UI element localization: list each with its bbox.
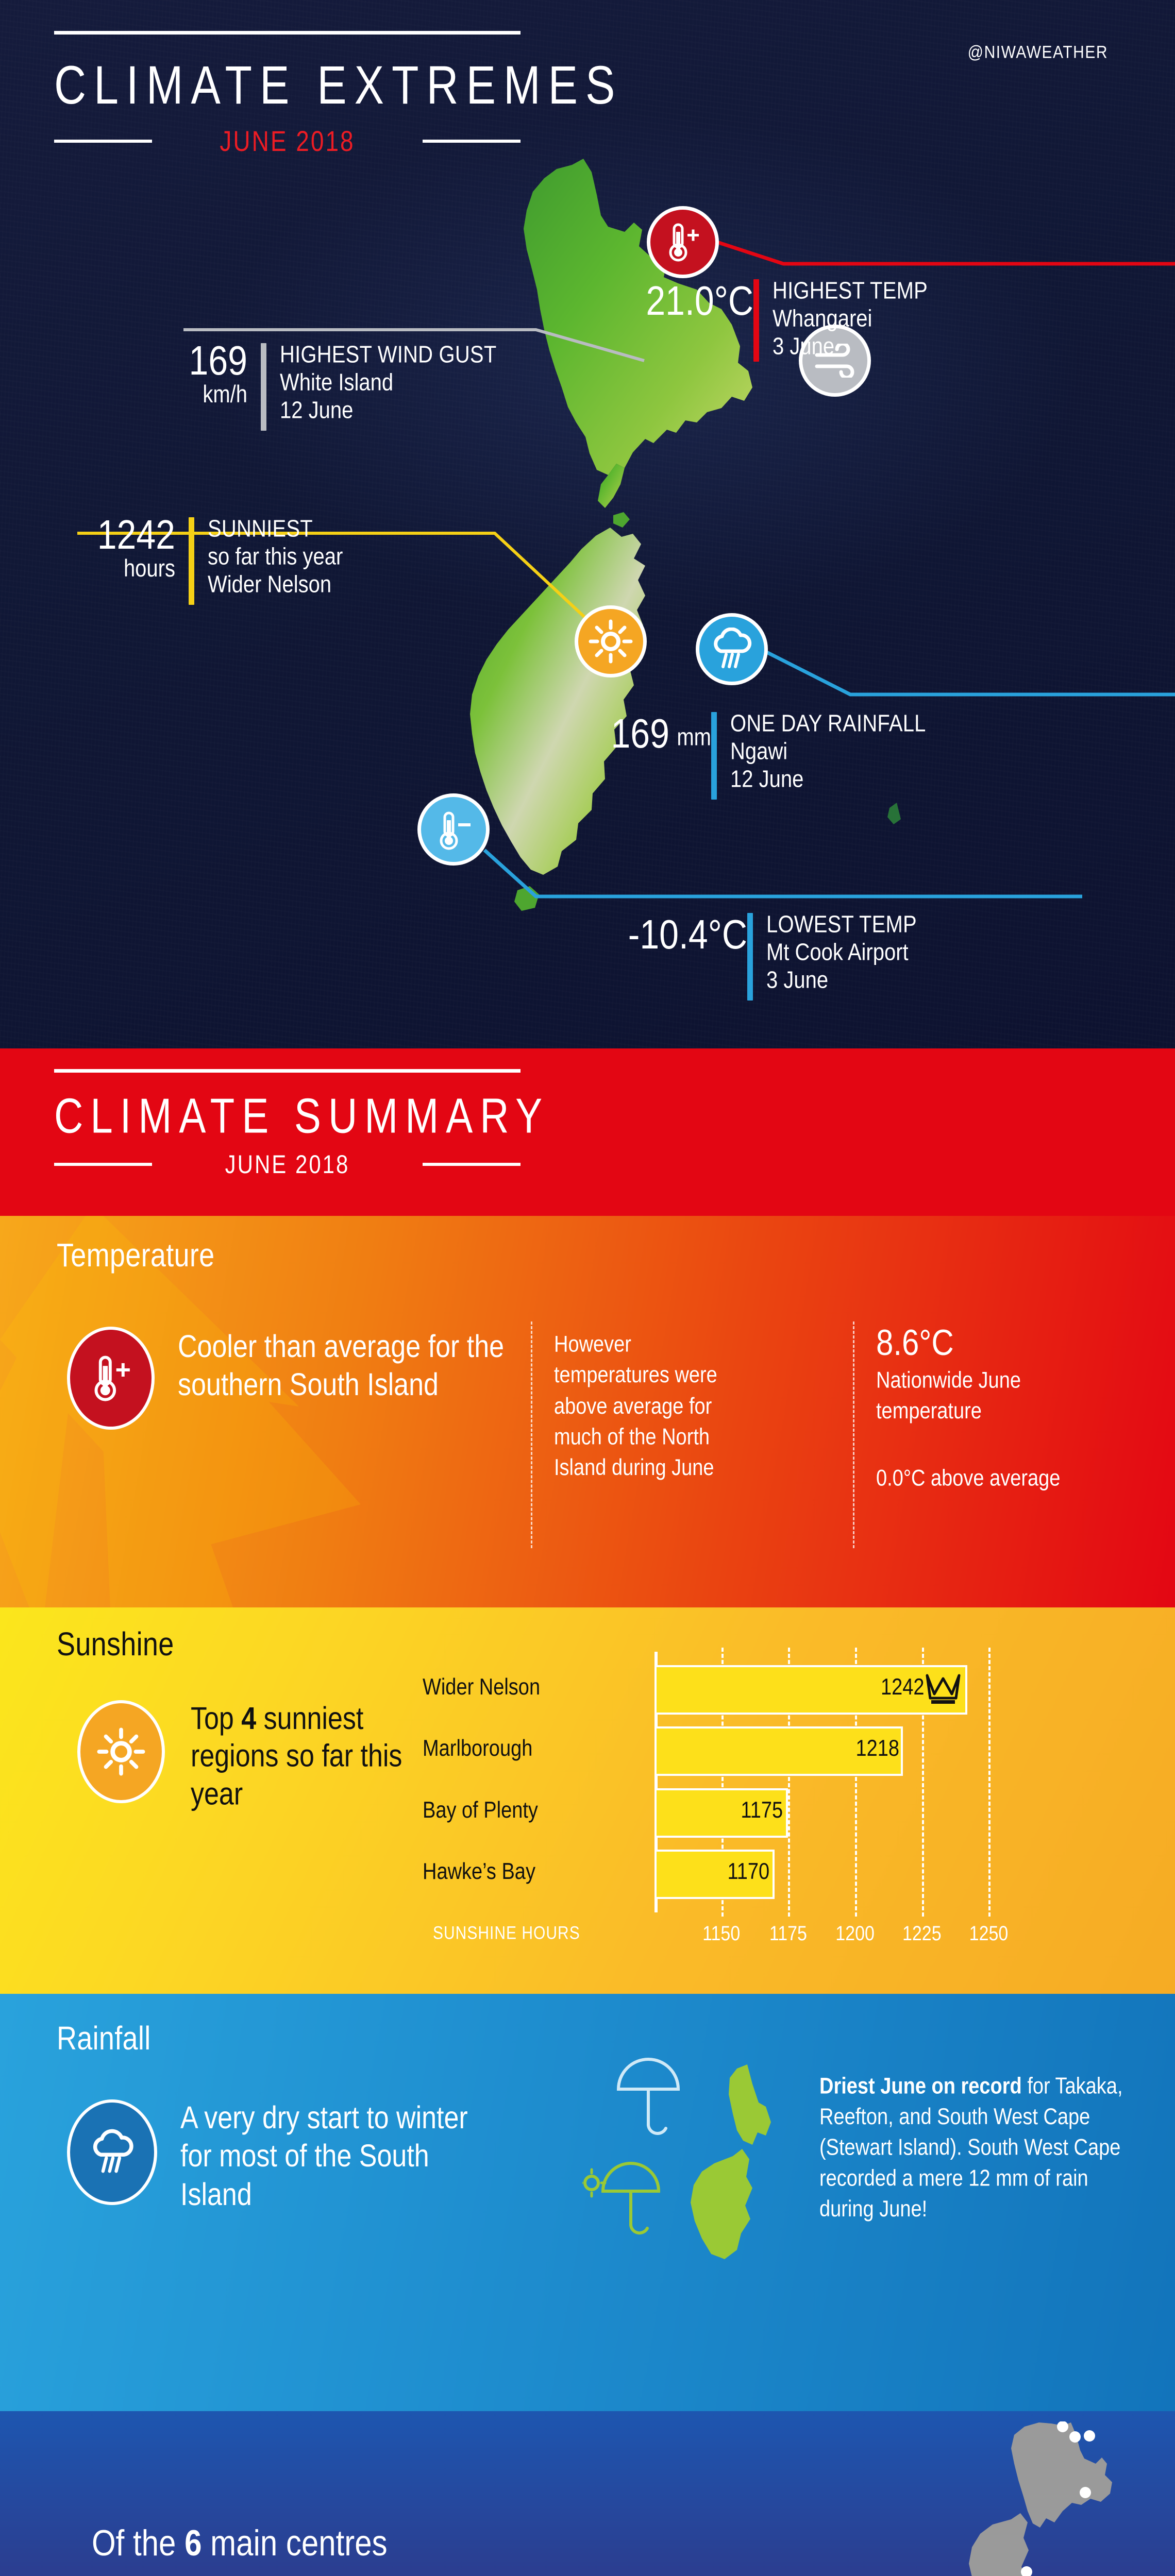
callout-highest-wind-gust: 169 km/h HIGHEST WIND GUST White Island … (155, 341, 496, 431)
chart-x-tick-label: 1200 (835, 1922, 875, 1946)
extreme-value: -10.4 (628, 911, 708, 958)
temperature-stat-label: Nationwide June temperature (876, 1365, 1072, 1427)
rain-cloud-icon (88, 2129, 137, 2176)
sunshine-section: Sunshine Top 4 sunniest regions so far t… (0, 1607, 1175, 1994)
rain-cloud-icon (709, 628, 755, 671)
temperature-section: Temperature Cooler than average for the … (0, 1216, 1175, 1607)
callout-highest-temp: 21.0°C HIGHEST TEMP Whangarei 3 June (753, 277, 928, 362)
chart-x-tick-label: 1250 (969, 1922, 1009, 1946)
extreme-heading: HIGHEST WIND GUST (280, 341, 496, 369)
chart-bar-value: 1242 (881, 1674, 925, 1700)
extreme-place: Mt Cook Airport (766, 939, 917, 967)
rainfall-lead: A very dry start to winter for most of t… (180, 2099, 500, 2214)
pin-sunniest (575, 605, 647, 677)
chart-category-label: Marlborough (423, 1736, 649, 1762)
pin-highest-temp (647, 206, 719, 278)
accent-bar (747, 913, 753, 1001)
callout-text: SUNNIEST so far this year Wider Nelson (208, 515, 343, 599)
temperature-note: However temperatures were above average … (554, 1329, 750, 1484)
sunshine-bar-chart: SUNSHINE HOURS Wider NelsonMarlboroughBa… (0, 1607, 1175, 1994)
summary-rule-right (423, 1163, 521, 1166)
climate-extremes-section: CLIMATE EXTREMES JUNE 2018 @NIWAWEATHER (0, 0, 1175, 1048)
section-title-rainfall: Rainfall (57, 2020, 151, 2057)
accent-bar (753, 279, 759, 362)
summary-rule-top (54, 1069, 521, 1073)
extreme-value: 169 (155, 341, 247, 380)
callout-text: LOWEST TEMP Mt Cook Airport 3 June (766, 911, 917, 995)
centres-heading-suffix: main centres (202, 2522, 387, 2563)
summary-subtitle: JUNE 2018 (152, 1149, 423, 1179)
extreme-unit: °C (708, 911, 747, 958)
chart-gridline (988, 1648, 991, 1917)
summary-title-block: CLIMATE SUMMARY JUNE 2018 (54, 1069, 533, 1177)
extreme-heading: HIGHEST TEMP (773, 277, 928, 305)
centres-heading-prefix: Of the (92, 2522, 184, 2563)
main-centres-section: Of the 6 main centres (0, 2411, 1175, 2576)
chart-x-tick-label: 1150 (702, 1922, 740, 1946)
chart-x-tick-label: 1225 (902, 1922, 942, 1946)
chart-x-tick-label: 1175 (769, 1922, 807, 1946)
rainfall-note-strong: Driest June on record (819, 2074, 1022, 2099)
chart-bar-value: 1218 (855, 1736, 899, 1762)
extreme-unit: km/h (155, 383, 247, 406)
extreme-heading: SUNNIEST (208, 515, 343, 543)
pin-lowest-temp (417, 793, 490, 866)
summary-subtitle-row: JUNE 2018 (54, 1152, 521, 1177)
thermometer-hot-icon (88, 1351, 133, 1405)
extreme-date: 12 June (730, 766, 926, 794)
extreme-place: so far this year (208, 543, 343, 571)
infographic-page: CLIMATE EXTREMES JUNE 2018 @NIWAWEATHER (0, 0, 1175, 2576)
chart-category-label: Wider Nelson (423, 1674, 649, 1700)
pin-one-day-rainfall (696, 613, 768, 685)
callout-lowest-temp: -10.4°C LOWEST TEMP Mt Cook Airport 3 Ju… (747, 911, 917, 1001)
chart-bar-value: 1170 (727, 1859, 769, 1885)
extreme-heading: LOWEST TEMP (766, 911, 917, 939)
temperature-stat-note: 0.0°C above average (876, 1463, 1072, 1494)
extreme-value: 1242 (72, 515, 175, 554)
extreme-date: 3 June (766, 967, 917, 995)
rainfall-note: Driest June on record for Takaka, Reefto… (819, 2071, 1123, 2225)
temperature-lead: Cooler than average for the southern Sou… (178, 1328, 508, 1404)
rainfall-icon-badge (67, 2099, 157, 2205)
centres-heading-strong: 6 (184, 2522, 202, 2563)
extreme-value: 169 (611, 710, 669, 757)
thermometer-cold-icon (434, 809, 473, 850)
rainfall-section: Rainfall A very dry start to winter for … (0, 1994, 1175, 2411)
crown-icon (925, 1671, 961, 1708)
extreme-place: White Island (280, 369, 496, 397)
sun-icon (589, 619, 633, 664)
chart-axis-label: SUNSHINE HOURS (433, 1923, 580, 1944)
summary-title: CLIMATE SUMMARY (54, 1091, 533, 1140)
chart-category-label: Hawke’s Bay (423, 1859, 649, 1885)
chart-bar-value: 1175 (741, 1798, 783, 1823)
chart-category-label: Bay of Plenty (423, 1798, 649, 1823)
extreme-date: 3 June (773, 333, 928, 361)
extreme-unit: mm (677, 724, 711, 751)
extreme-value: 21.0 (646, 278, 714, 324)
callout-text: ONE DAY RAINFALL Ngawi 12 June (730, 710, 926, 794)
extreme-place: Ngawi (730, 738, 926, 766)
callout-text: HIGHEST TEMP Whangarei 3 June (773, 277, 928, 361)
temperature-icon-badge (67, 1327, 155, 1430)
accent-bar (711, 712, 717, 800)
extreme-place: Whangarei (773, 305, 928, 333)
callout-sunniest: 1242 hours SUNNIEST so far this year Wid… (72, 515, 343, 605)
extreme-unit: °C (714, 278, 753, 324)
divider-1 (531, 1321, 532, 1548)
thermometer-hot-icon (664, 221, 702, 264)
accent-bar (261, 343, 266, 431)
temperature-stat-value: 8.6°C (876, 1321, 954, 1363)
section-title-temperature: Temperature (57, 1236, 214, 1274)
divider-2 (853, 1321, 854, 1548)
extreme-date: 12 June (280, 397, 496, 425)
callout-text: HIGHEST WIND GUST White Island 12 June (280, 341, 496, 425)
extreme-unit: hours (72, 557, 175, 580)
climate-summary-banner: CLIMATE SUMMARY JUNE 2018 (0, 1048, 1175, 1216)
rainfall-decoration (582, 2053, 830, 2342)
accent-bar (189, 517, 194, 605)
centres-heading: Of the 6 main centres (92, 2522, 388, 2564)
summary-rule-left (54, 1163, 152, 1166)
extreme-date: Wider Nelson (208, 571, 343, 599)
callout-one-day-rainfall: 169 mm ONE DAY RAINFALL Ngawi 12 June (711, 710, 926, 800)
new-zealand-small-map (943, 2421, 1113, 2576)
extreme-heading: ONE DAY RAINFALL (730, 710, 926, 738)
